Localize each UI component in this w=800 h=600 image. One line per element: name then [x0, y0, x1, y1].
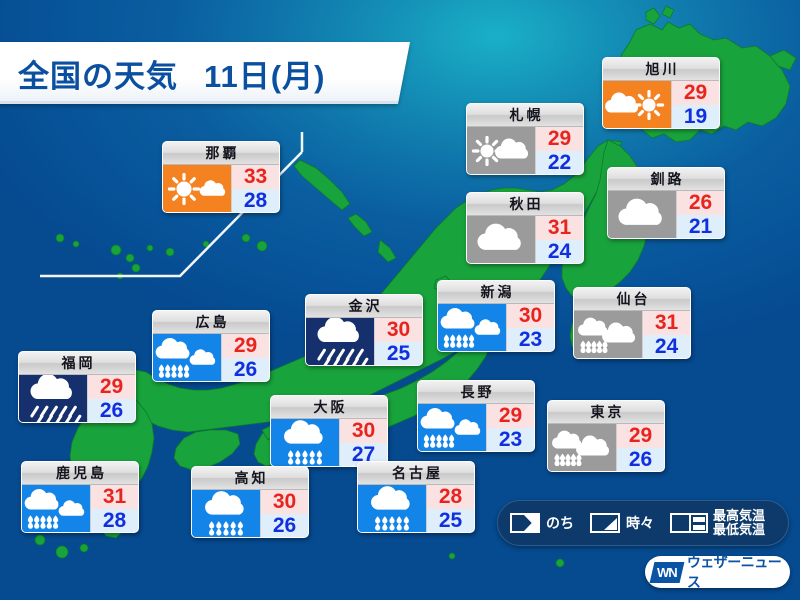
- weather-icon-box: [192, 490, 260, 537]
- card-body: 3128: [22, 485, 138, 532]
- weather-icon-box: [608, 191, 676, 238]
- card-header: 新潟: [438, 281, 554, 304]
- card-header: 長野: [418, 381, 534, 404]
- high-temperature: 29: [222, 334, 269, 358]
- card-header: 旭川: [603, 58, 719, 81]
- forecast-card[interactable]: 東京 2926: [547, 400, 665, 472]
- card-body: 2923: [418, 404, 534, 451]
- temperature-box: 2926: [87, 375, 135, 422]
- temperature-box: 3328: [231, 165, 279, 212]
- high-temperature: 31: [643, 311, 690, 335]
- heavy-icon: [19, 375, 87, 422]
- high-temperature: 28: [427, 485, 474, 509]
- cloudy-icon: [188, 342, 219, 381]
- low-temperature: 26: [261, 514, 308, 538]
- card-header: 福岡: [19, 352, 135, 375]
- forecast-card[interactable]: 那覇 3328: [162, 141, 280, 213]
- card-body: 3124: [467, 216, 583, 263]
- forecast-card[interactable]: 旭川 2919: [602, 57, 720, 129]
- high-temperature: 29: [617, 424, 664, 448]
- rain-icon: [574, 311, 616, 358]
- high-temperature: 33: [232, 165, 279, 189]
- heavy-icon: [306, 318, 374, 365]
- forecast-card[interactable]: 高知 3026: [191, 466, 309, 538]
- city-name: 釧路: [648, 172, 685, 186]
- weather-icon-box: [358, 485, 426, 532]
- high-temperature: 29: [487, 404, 534, 428]
- weather-icon-box: [306, 318, 374, 365]
- legend-temperature: 最高気温 最低気温: [670, 509, 765, 536]
- tokidoki-icon: [590, 513, 620, 533]
- cloudy-icon: [57, 493, 88, 532]
- city-name: 東京: [588, 405, 625, 419]
- cloudy-icon: [603, 81, 645, 128]
- card-header: 広島: [153, 311, 269, 334]
- legend-nochi: のち: [510, 513, 574, 533]
- card-header: 仙台: [574, 288, 690, 311]
- low-temperature: 24: [643, 335, 690, 359]
- high-temperature: 30: [261, 490, 308, 514]
- wn-mark-text: WN: [657, 565, 677, 580]
- forecast-card[interactable]: 新潟 3023: [437, 280, 555, 352]
- temperature-box: 3027: [339, 419, 387, 466]
- temperature-box-icon: [670, 513, 708, 533]
- forecast-card[interactable]: 札幌 2922: [466, 103, 584, 175]
- weather-icon-box: [467, 216, 535, 263]
- forecast-card[interactable]: 釧路 2621: [607, 167, 725, 239]
- rain-icon: [358, 485, 426, 532]
- city-name: 秋田: [507, 197, 544, 211]
- low-temperature: 25: [375, 342, 422, 366]
- legend-tokidoki-label: 時々: [626, 513, 654, 533]
- card-header: 高知: [192, 467, 308, 490]
- weather-icon-box: [22, 485, 90, 532]
- weather-icon-box: [467, 127, 535, 174]
- temperature-box: 3124: [642, 311, 690, 358]
- card-body: 3023: [438, 304, 554, 351]
- low-temperature: 26: [222, 358, 269, 382]
- weather-icon-box: [438, 304, 506, 351]
- temperature-box: 2923: [486, 404, 534, 451]
- legend-box: のち 時々 最高気温 最低気温: [497, 500, 789, 546]
- legend-tokidoki: 時々: [590, 513, 654, 533]
- city-name: 高知: [232, 471, 269, 485]
- card-body: 2926: [548, 424, 664, 471]
- high-temperature: 29: [672, 81, 719, 105]
- temperature-box: 3023: [506, 304, 554, 351]
- weather-icon-box: [574, 311, 642, 358]
- high-temperature: 31: [536, 216, 583, 240]
- card-header: 鹿児島: [22, 462, 138, 485]
- weather-icon-box: [603, 81, 671, 128]
- low-temperature: 26: [617, 448, 664, 472]
- city-name: 福岡: [59, 356, 96, 370]
- forecast-card[interactable]: 仙台 3124: [573, 287, 691, 359]
- city-name: 那覇: [203, 146, 240, 160]
- forecast-card[interactable]: 鹿児島 3128: [21, 461, 139, 533]
- card-body: 2926: [153, 334, 269, 381]
- temperature-box: 3128: [90, 485, 138, 532]
- low-temperature: 24: [536, 240, 583, 264]
- temperature-box: 2825: [426, 485, 474, 532]
- forecast-date: 11日(月): [204, 51, 325, 96]
- temperature-box: 2926: [221, 334, 269, 381]
- high-temperature: 26: [677, 191, 724, 215]
- card-body: 3328: [163, 165, 279, 212]
- forecast-card[interactable]: 福岡 2926: [18, 351, 136, 423]
- temperature-box: 2621: [676, 191, 724, 238]
- weather-icon-box: [163, 165, 231, 212]
- card-body: 3025: [306, 318, 422, 365]
- card-body: 3027: [271, 419, 387, 466]
- weather-icon-box: [271, 419, 339, 466]
- low-temperature: 28: [91, 509, 138, 533]
- weather-icon-box: [19, 375, 87, 422]
- city-name: 広島: [193, 315, 230, 329]
- cloudy-icon: [453, 412, 484, 451]
- card-header: 大阪: [271, 396, 387, 419]
- low-temperature: 22: [536, 151, 583, 175]
- temperature-box: 3026: [260, 490, 308, 537]
- legend-low-temp-label: 最低気温: [713, 523, 765, 537]
- card-body: 2621: [608, 191, 724, 238]
- forecast-card[interactable]: 大阪 3027: [270, 395, 388, 467]
- city-name: 札幌: [507, 108, 544, 122]
- title-banner: 全国の天気 11日(月): [18, 44, 418, 102]
- high-temperature: 29: [536, 127, 583, 151]
- sunny-icon: [467, 127, 509, 174]
- low-temperature: 21: [677, 215, 724, 239]
- card-header: 名古屋: [358, 462, 474, 485]
- city-name: 大阪: [311, 400, 348, 414]
- card-header: 東京: [548, 401, 664, 424]
- temperature-box: 2919: [671, 81, 719, 128]
- wn-mark-icon: WN: [650, 562, 685, 583]
- rain-icon: [548, 424, 590, 471]
- card-header: 釧路: [608, 168, 724, 191]
- card-header: 金沢: [306, 295, 422, 318]
- card-body: 2922: [467, 127, 583, 174]
- city-name: 長野: [458, 385, 495, 399]
- high-temperature: 30: [507, 304, 554, 328]
- low-temperature: 23: [487, 428, 534, 452]
- cloudy-icon: [467, 216, 535, 263]
- temperature-box: 2926: [616, 424, 664, 471]
- nochi-icon: [510, 513, 540, 533]
- forecast-card[interactable]: 秋田 3124: [466, 192, 584, 264]
- card-body: 2825: [358, 485, 474, 532]
- legend-high-temp-label: 最高気温: [713, 509, 765, 523]
- weather-icon-box: [418, 404, 486, 451]
- forecast-card[interactable]: 広島 2926: [152, 310, 270, 382]
- cloudy-icon: [473, 312, 504, 351]
- card-body: 3124: [574, 311, 690, 358]
- weather-icon-box: [548, 424, 616, 471]
- city-name: 鹿児島: [53, 466, 107, 480]
- card-header: 札幌: [467, 104, 583, 127]
- card-body: 3026: [192, 490, 308, 537]
- low-temperature: 19: [672, 105, 719, 129]
- weather-icon-box: [153, 334, 221, 381]
- city-name: 旭川: [643, 62, 680, 76]
- city-name: 仙台: [614, 292, 651, 306]
- city-name: 名古屋: [389, 466, 443, 480]
- cloudy-icon: [198, 173, 229, 212]
- high-temperature: 31: [91, 485, 138, 509]
- legend-nochi-label: のち: [546, 513, 574, 533]
- high-temperature: 30: [340, 419, 387, 443]
- forecast-card[interactable]: 名古屋 2825: [357, 461, 475, 533]
- temperature-box: 3124: [535, 216, 583, 263]
- forecast-card[interactable]: 金沢 3025: [305, 294, 423, 366]
- low-temperature: 25: [427, 509, 474, 533]
- cloudy-icon: [608, 191, 676, 238]
- city-name: 金沢: [346, 299, 383, 313]
- logo-wordmark: ウェザーニュース: [687, 552, 790, 592]
- low-temperature: 26: [88, 399, 135, 423]
- city-name: 新潟: [478, 285, 515, 299]
- forecast-card[interactable]: 長野 2923: [417, 380, 535, 452]
- low-temperature: 23: [507, 328, 554, 352]
- high-temperature: 30: [375, 318, 422, 342]
- card-body: 2919: [603, 81, 719, 128]
- rain-icon: [192, 490, 260, 537]
- card-body: 2926: [19, 375, 135, 422]
- low-temperature: 28: [232, 189, 279, 213]
- page-title: 全国の天気: [18, 51, 178, 96]
- rain-icon: [271, 419, 339, 466]
- high-temperature: 29: [88, 375, 135, 399]
- card-header: 秋田: [467, 193, 583, 216]
- temperature-box: 3025: [374, 318, 422, 365]
- card-header: 那覇: [163, 142, 279, 165]
- weather-map-screen: 全国の天気 11日(月) 旭川 2919札幌 2922釧路 2621秋田 312…: [0, 0, 800, 600]
- weathernews-logo: WN ウェザーニュース: [645, 556, 790, 588]
- temperature-box: 2922: [535, 127, 583, 174]
